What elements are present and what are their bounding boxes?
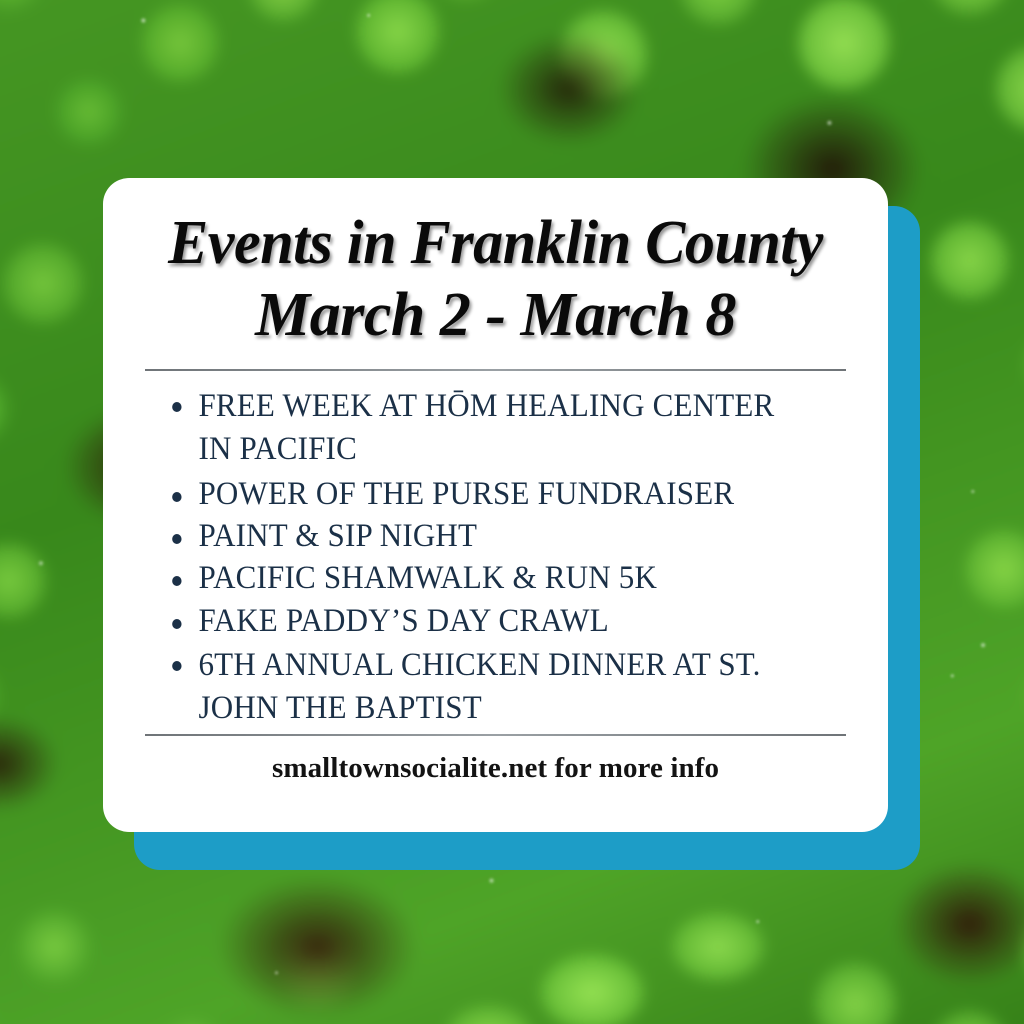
- poster-footer-website: smalltownsocialite.net for more info: [145, 752, 846, 785]
- divider-top: [145, 369, 846, 371]
- divider-bottom: [145, 734, 846, 736]
- list-item: POWER OF THE PURSE FUNDRAISER: [159, 475, 805, 513]
- events-card: Events in Franklin County March 2 - Marc…: [103, 178, 888, 832]
- poster-title-line-2: March 2 - March 8: [145, 284, 846, 346]
- poster-title: Events in Franklin County March 2 - Marc…: [145, 212, 846, 346]
- list-item: PACIFIC SHAMWALK & RUN 5K: [159, 559, 805, 597]
- list-item: FREE WEEK AT HŌM HEALING CENTER IN PACIF…: [159, 385, 805, 471]
- list-item: FAKE PADDY’S DAY CRAWL: [159, 602, 805, 640]
- event-list: FREE WEEK AT HŌM HEALING CENTER IN PACIF…: [159, 385, 846, 730]
- list-item: 6TH ANNUAL CHICKEN DINNER AT ST. JOHN TH…: [159, 644, 805, 730]
- list-item: PAINT & SIP NIGHT: [159, 517, 805, 555]
- event-poster: Events in Franklin County March 2 - Marc…: [0, 0, 1024, 1024]
- poster-title-line-1: Events in Franklin County: [156, 212, 836, 274]
